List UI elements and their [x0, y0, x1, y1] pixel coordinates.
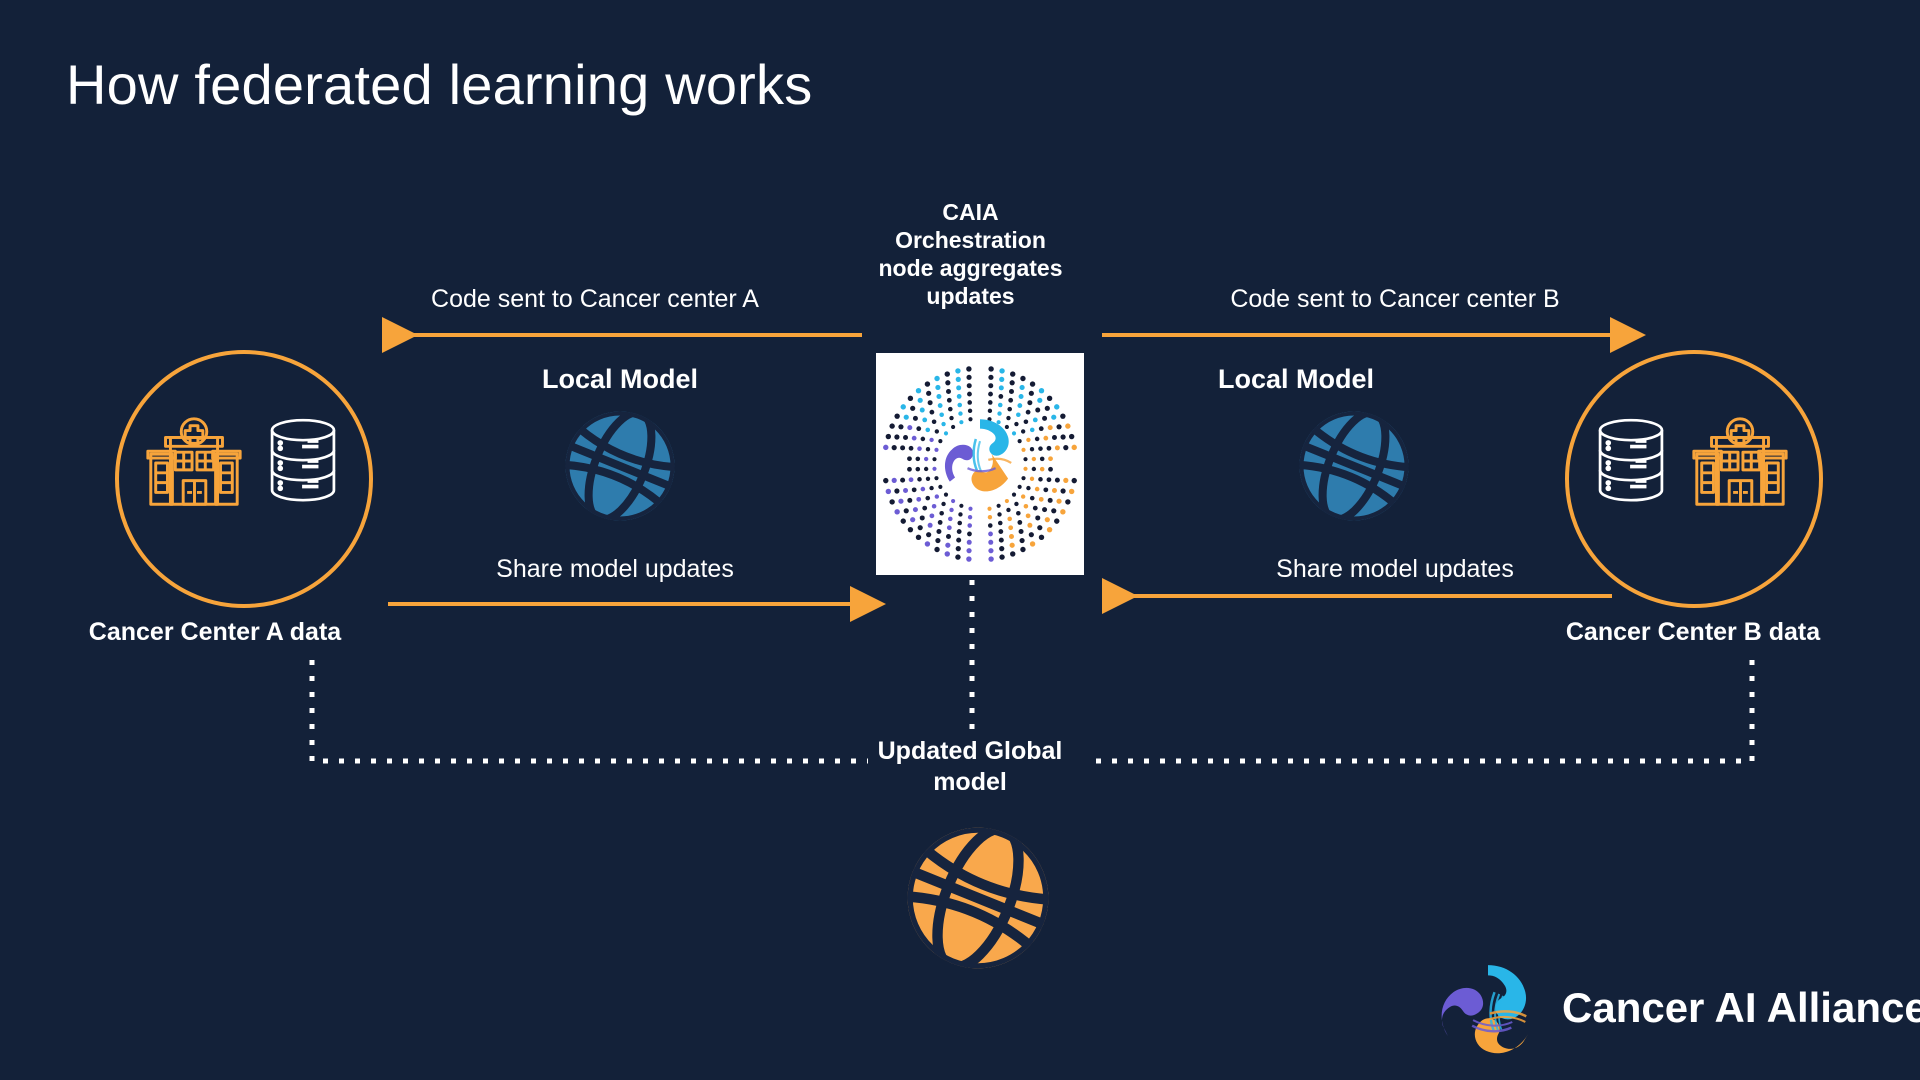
brand-name: Cancer AI Alliance — [1562, 984, 1920, 1032]
footer-brand: Cancer AI Alliance — [1432, 952, 1920, 1064]
cancer-center-b-label: Cancer Center B data — [1528, 617, 1858, 648]
caia-orchestration-node-logo — [876, 353, 1084, 575]
hospital-building-icon — [140, 408, 248, 516]
cancer-ai-alliance-hands-logo — [1432, 952, 1544, 1064]
caia-node-label-line-2: Orchestration — [895, 227, 1046, 253]
updated-global-model-line-2: model — [933, 768, 1007, 796]
globe-icon-blue-a — [558, 404, 682, 528]
cancer-center-a-icons — [140, 408, 344, 516]
caption-code-to-center-a: Code sent to Cancer center A — [380, 285, 810, 314]
database-cylinder-icon — [262, 412, 344, 512]
globe-icon-orange — [898, 818, 1058, 978]
cancer-center-b-icons — [1590, 408, 1794, 516]
caia-node-label: CAIA Orchestration node aggregates updat… — [848, 198, 1093, 310]
caia-node-label-line-3: node aggregates — [878, 255, 1062, 281]
hospital-building-icon — [1686, 408, 1794, 516]
diagram-canvas: How federated learning works CAIA Orches… — [0, 0, 1920, 1080]
globe-icon-blue-b — [1292, 404, 1416, 528]
caia-node-label-line-4: updates — [926, 283, 1014, 309]
dotted-center-a-to-global — [312, 660, 868, 761]
caia-node-label-line-1: CAIA — [942, 199, 998, 225]
caption-share-updates-b: Share model updates — [1180, 555, 1610, 584]
local-model-label-b: Local Model — [1146, 363, 1446, 396]
caption-code-to-center-b: Code sent to Cancer center B — [1180, 285, 1610, 314]
updated-global-model-label: Updated Global model — [850, 736, 1090, 797]
updated-global-model-line-1: Updated Global — [878, 737, 1063, 765]
caption-share-updates-a: Share model updates — [400, 555, 830, 584]
hands-mark-icon — [945, 419, 1011, 491]
dotted-center-b-to-global — [1092, 660, 1752, 761]
cancer-center-a-label: Cancer Center A data — [50, 617, 380, 648]
caia-radial-dots-logo — [876, 353, 1084, 575]
local-model-label-a: Local Model — [470, 363, 770, 396]
database-cylinder-icon — [1590, 412, 1672, 512]
